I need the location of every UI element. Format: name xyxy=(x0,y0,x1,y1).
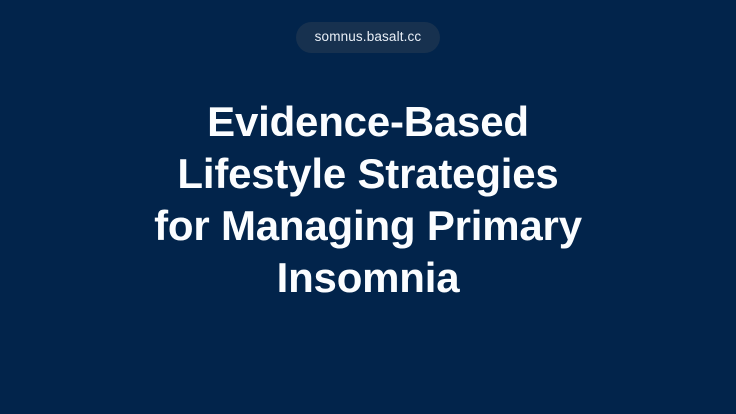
title-line-4: Insomnia xyxy=(277,252,460,304)
title-line-1: Evidence-Based xyxy=(207,96,529,148)
badge-row: somnus.basalt.cc xyxy=(0,22,736,53)
source-domain-badge: somnus.basalt.cc xyxy=(296,22,441,53)
title-line-3: for Managing Primary xyxy=(154,200,582,252)
page-title: Evidence-Based Lifestyle Strategies for … xyxy=(0,96,736,304)
title-line-2: Lifestyle Strategies xyxy=(177,148,558,200)
title-slide: somnus.basalt.cc Evidence-Based Lifestyl… xyxy=(0,0,736,414)
